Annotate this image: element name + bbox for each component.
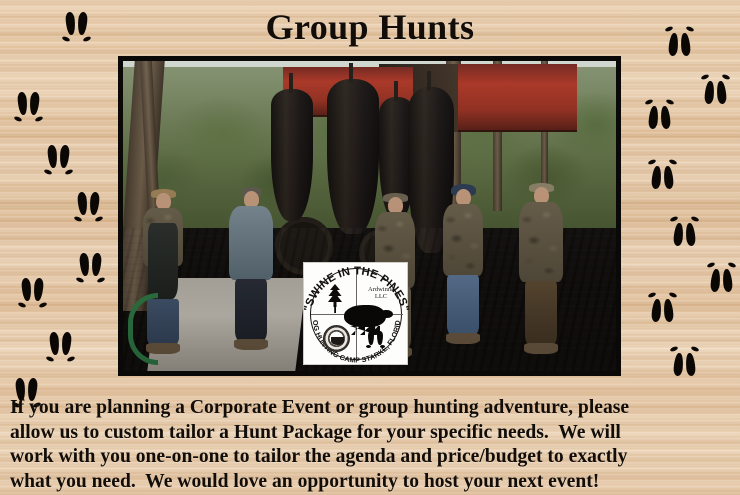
description-line-1: If you are planning a Corporate Event or… <box>10 396 732 421</box>
hog-hoof-track-icon <box>14 92 44 126</box>
photo-hanging-hog <box>271 89 313 221</box>
photo-hanging-hog <box>327 79 379 234</box>
logo-company-line-1: Ardwinna <box>368 286 394 293</box>
hog-hoof-track-icon <box>18 278 48 312</box>
description-line-4: what you need. We would love an opportun… <box>10 470 732 495</box>
boar-silhouette-icon <box>344 305 386 327</box>
page-title: Group Hunts <box>0 6 740 48</box>
logo-company-line-2: LLC <box>375 293 387 300</box>
group-hunts-page: Group Hunts <box>0 0 740 495</box>
hog-hoof-track-icon <box>645 95 675 129</box>
hog-hoof-track-icon <box>648 155 678 189</box>
hog-hoof-track-icon <box>74 192 104 226</box>
hog-hoof-track-icon <box>46 332 76 366</box>
description-line-3: work with you one-on-one to tailor the a… <box>10 445 732 470</box>
hoof-print-icon <box>366 331 385 349</box>
hog-hoof-track-icon <box>707 258 737 292</box>
description-line-2: allow us to custom tailor a Hunt Package… <box>10 421 732 446</box>
pine-tree-icon <box>327 283 343 313</box>
hog-hoof-track-icon <box>648 288 678 322</box>
hog-hoof-track-icon <box>76 253 106 287</box>
camp-seal-icon <box>323 325 350 352</box>
hog-hoof-track-icon <box>701 70 731 104</box>
swine-in-the-pines-logo: "SWINE IN THE PINES" HOG HUNTING CAMP ST… <box>303 262 408 365</box>
logo-company-name: Ardwinna LLC <box>357 286 405 301</box>
hog-hoof-track-icon <box>670 342 700 376</box>
description-paragraph: If you are planning a Corporate Event or… <box>10 396 732 494</box>
hog-hoof-track-icon <box>44 145 74 179</box>
hog-hoof-track-icon <box>670 212 700 246</box>
